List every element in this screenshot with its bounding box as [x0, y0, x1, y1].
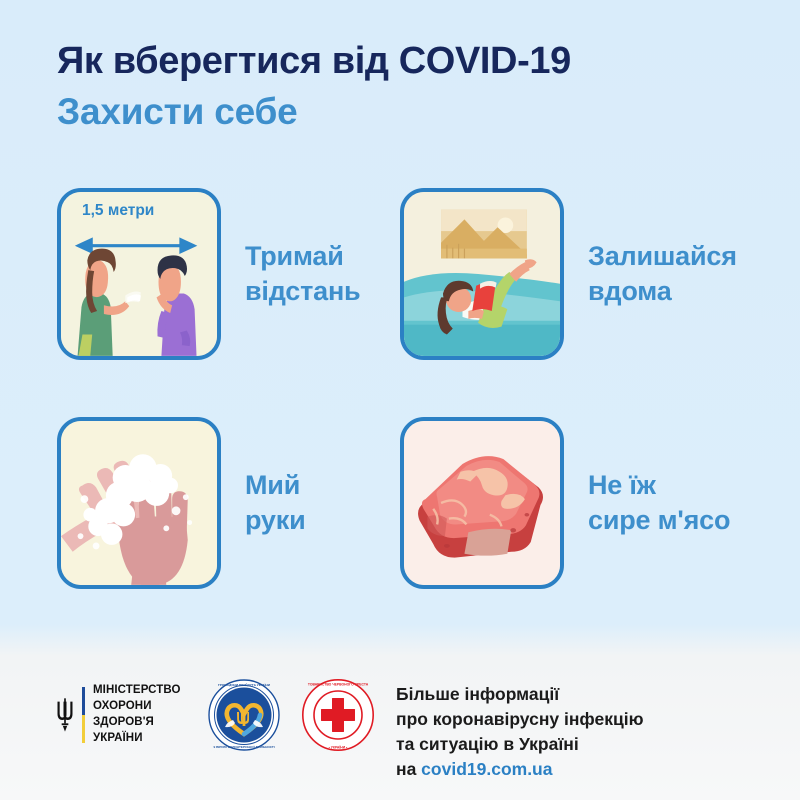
raw-meat-icon: [400, 417, 564, 589]
footer-info-text: Більше інформації про коронавірусну інфе…: [396, 682, 644, 781]
ministry-of-health-label: МІНІСТЕРСТВО ОХОРОНИ ЗДОРОВ'Я УКРАЇНИ: [93, 683, 181, 746]
svg-text:ГРОМАДЯНИ ПРИЙДУТЬ УКРАЇНИ: ГРОМАДЯНИ ПРИЙДУТЬ УКРАЇНИ: [218, 683, 271, 687]
advice-card-label: Залишайся вдома: [588, 239, 737, 308]
stay-home-icon: [400, 188, 564, 360]
ukraine-trident-icon: [55, 694, 75, 736]
volunteer-heart-seal-icon: ГРОМАДЯНИ ПРИЙДУТЬ УКРАЇНИ З ВІРОЮ ВОЛОН…: [207, 678, 281, 752]
footer-url-prefix: на: [396, 759, 421, 779]
advice-card-raw-meat: Не їж сире м'ясо: [400, 417, 730, 589]
red-cross-seal-icon: ТОВАРИСТВО ЧЕРВОНОГО ХРЕСТА • УКРАЇНИ •: [301, 678, 375, 752]
poster-header: Як вберегтися від COVID-19 Захисти себе: [57, 40, 757, 134]
logo-divider-bar: [82, 687, 85, 743]
footer-info-line-3: та ситуацію в Україні: [396, 732, 644, 757]
advice-card-stay-home: Залишайся вдома: [400, 188, 737, 360]
distance-badge: 1,5 метри: [82, 202, 154, 220]
wash-hands-icon: [57, 417, 221, 589]
advice-card-label: Мий руки: [245, 468, 305, 537]
page-title: Як вберегтися від COVID-19: [57, 40, 757, 84]
poster-root: Як вберегтися від COVID-19 Захисти себе: [0, 0, 800, 800]
advice-card-wash-hands: Мий руки: [57, 417, 305, 589]
footer-info-line-1: Більше інформації: [396, 682, 644, 707]
covid19-website-link[interactable]: covid19.com.ua: [421, 759, 552, 779]
footer-url-line: на covid19.com.ua: [396, 757, 644, 782]
advice-card-label: Тримай відстань: [245, 239, 360, 308]
advice-card-label: Не їж сире м'ясо: [588, 468, 730, 537]
page-subtitle: Захисти себе: [57, 90, 757, 134]
footer-info-line-2: про коронавірусну інфекцію: [396, 707, 644, 732]
ministry-of-health-logo: МІНІСТЕРСТВО ОХОРОНИ ЗДОРОВ'Я УКРАЇНИ: [55, 683, 181, 746]
svg-text:З ВІРОЮ ВОЛОНТЕРСЬКОЇ ДІЯЛЬНОС: З ВІРОЮ ВОЛОНТЕРСЬКОЇ ДІЯЛЬНОСТІ: [213, 745, 274, 749]
poster-footer: МІНІСТЕРСТВО ОХОРОНИ ЗДОРОВ'Я УКРАЇНИ: [0, 660, 800, 800]
svg-text:ТОВАРИСТВО ЧЕРВОНОГО ХРЕСТА: ТОВАРИСТВО ЧЕРВОНОГО ХРЕСТА: [307, 682, 368, 686]
svg-text:• УКРАЇНИ •: • УКРАЇНИ •: [328, 746, 347, 750]
